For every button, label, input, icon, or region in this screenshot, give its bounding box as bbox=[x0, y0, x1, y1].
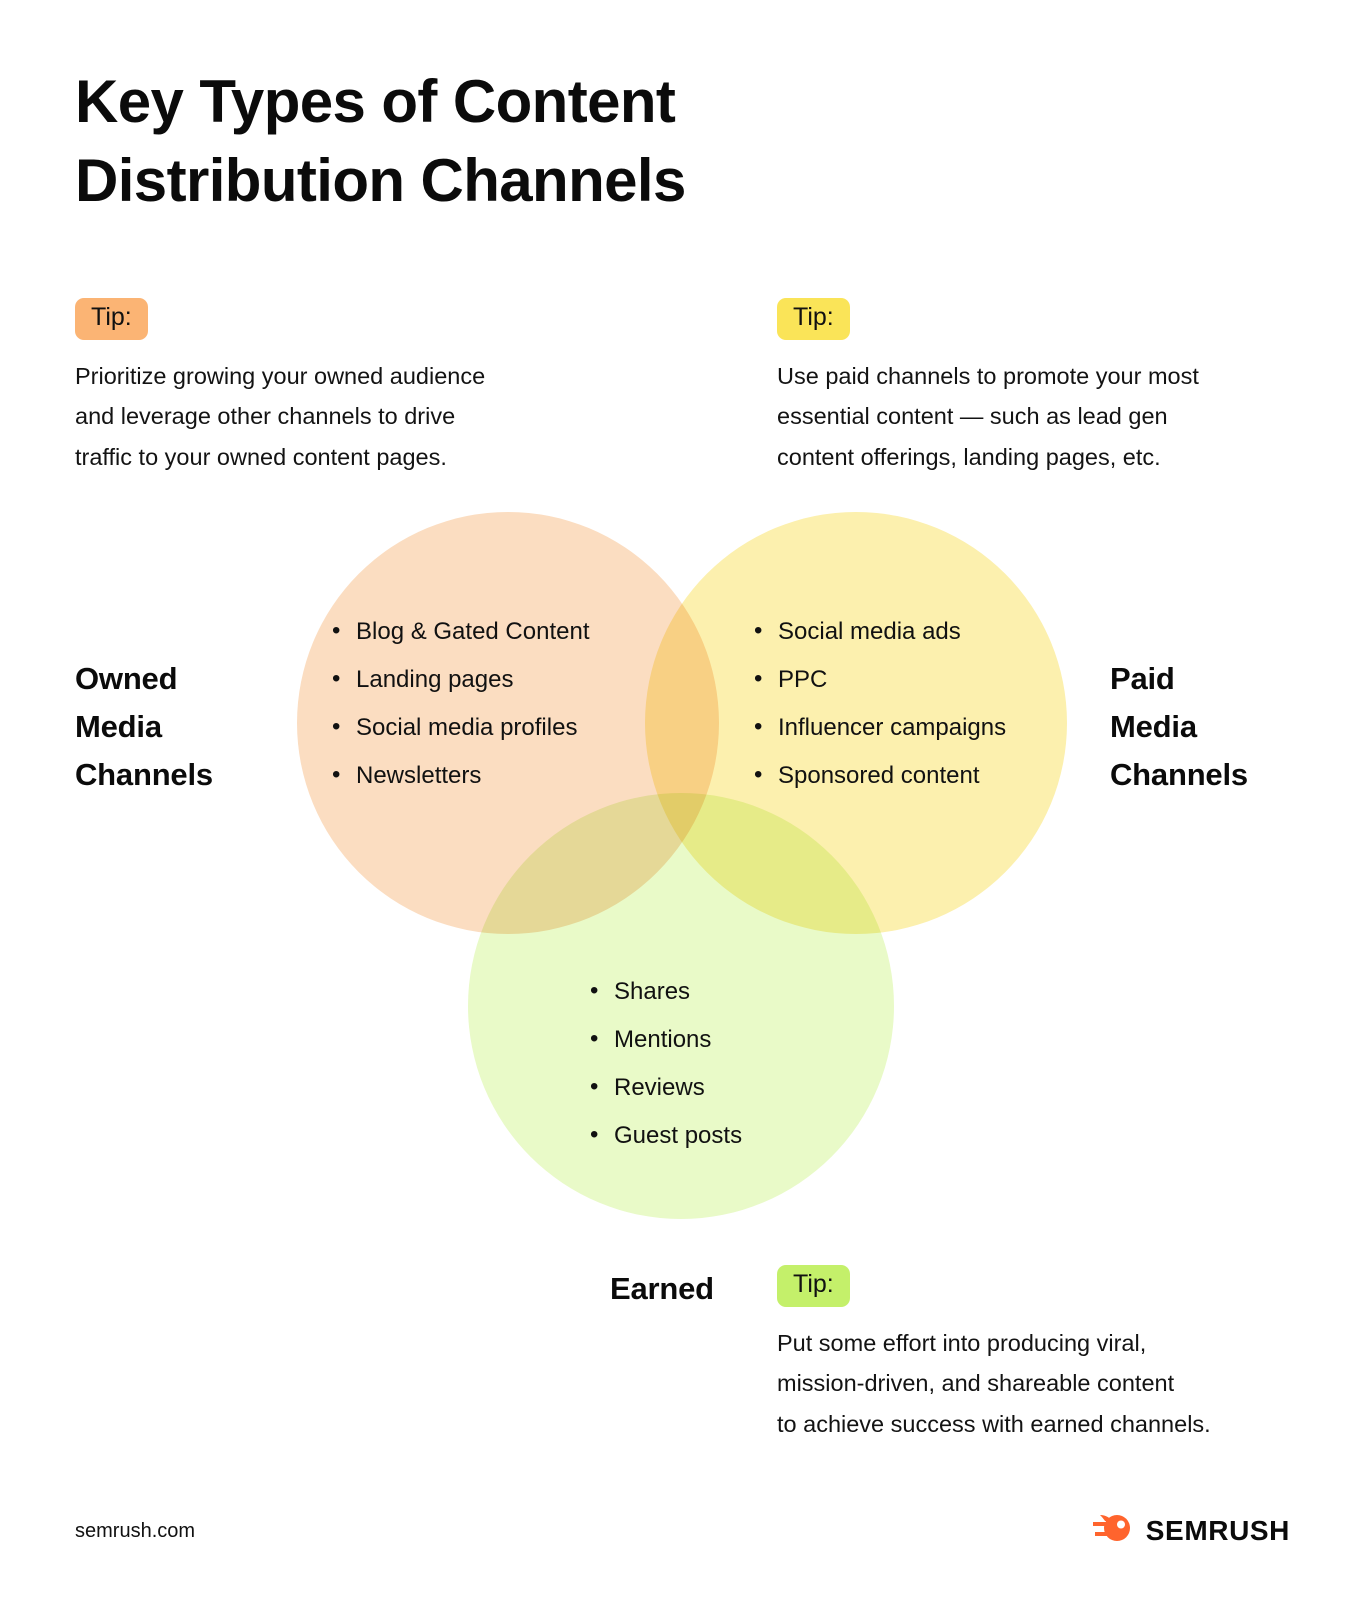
tip-body-paid: Use paid channels to promote your most e… bbox=[777, 356, 1297, 477]
list-item: Shares bbox=[588, 980, 742, 1004]
tip-badge-paid: Tip: bbox=[777, 298, 850, 340]
venn-label-paid: Paid Media Channels bbox=[1110, 655, 1248, 799]
venn-list-earned: Shares Mentions Reviews Guest posts bbox=[588, 980, 742, 1148]
venn-list-paid: Social media ads PPC Influencer campaign… bbox=[752, 620, 1006, 788]
list-item: Landing pages bbox=[330, 668, 589, 692]
venn-label-owned: Owned Media Channels bbox=[75, 655, 213, 799]
venn-label-paid-line-1: Paid bbox=[1110, 655, 1248, 703]
list-item: Influencer campaigns bbox=[752, 716, 1006, 740]
venn-label-owned-line-1: Owned bbox=[75, 655, 213, 703]
tip-block-paid: Tip: Use paid channels to promote your m… bbox=[777, 298, 1297, 477]
venn-label-earned: Earned bbox=[610, 1265, 714, 1313]
semrush-comet-icon-svg bbox=[1092, 1513, 1134, 1543]
semrush-logo: SEMRUSH bbox=[1092, 1513, 1290, 1548]
tip-block-earned: Tip: Put some effort into producing vira… bbox=[777, 1265, 1297, 1444]
list-item: Guest posts bbox=[588, 1124, 742, 1148]
page-title-line-1: Key Types of Content bbox=[75, 62, 875, 141]
infographic-page: Key Types of Content Distribution Channe… bbox=[0, 0, 1362, 1600]
footer-url: semrush.com bbox=[75, 1520, 195, 1543]
venn-label-paid-line-2: Media bbox=[1110, 703, 1248, 751]
venn-label-paid-line-3: Channels bbox=[1110, 751, 1248, 799]
tip-badge-owned: Tip: bbox=[75, 298, 148, 340]
tip-body-owned: Prioritize growing your owned audience a… bbox=[75, 356, 595, 477]
list-item: Social media ads bbox=[752, 620, 1006, 644]
page-title-line-2: Distribution Channels bbox=[75, 141, 875, 220]
list-item: Social media profiles bbox=[330, 716, 589, 740]
tip-body-earned: Put some effort into producing viral, mi… bbox=[777, 1323, 1297, 1444]
list-item: PPC bbox=[752, 668, 1006, 692]
tip-block-owned: Tip: Prioritize growing your owned audie… bbox=[75, 298, 595, 477]
venn-label-owned-line-2: Media bbox=[75, 703, 213, 751]
list-item: Reviews bbox=[588, 1076, 742, 1100]
semrush-comet-icon bbox=[1092, 1513, 1134, 1548]
tip-badge-earned: Tip: bbox=[777, 1265, 850, 1307]
venn-list-owned: Blog & Gated Content Landing pages Socia… bbox=[330, 620, 589, 788]
list-item: Mentions bbox=[588, 1028, 742, 1052]
venn-label-owned-line-3: Channels bbox=[75, 751, 213, 799]
page-title: Key Types of Content Distribution Channe… bbox=[75, 62, 875, 220]
list-item: Newsletters bbox=[330, 764, 589, 788]
list-item: Sponsored content bbox=[752, 764, 1006, 788]
list-item: Blog & Gated Content bbox=[330, 620, 589, 644]
semrush-wordmark: SEMRUSH bbox=[1146, 1515, 1290, 1547]
